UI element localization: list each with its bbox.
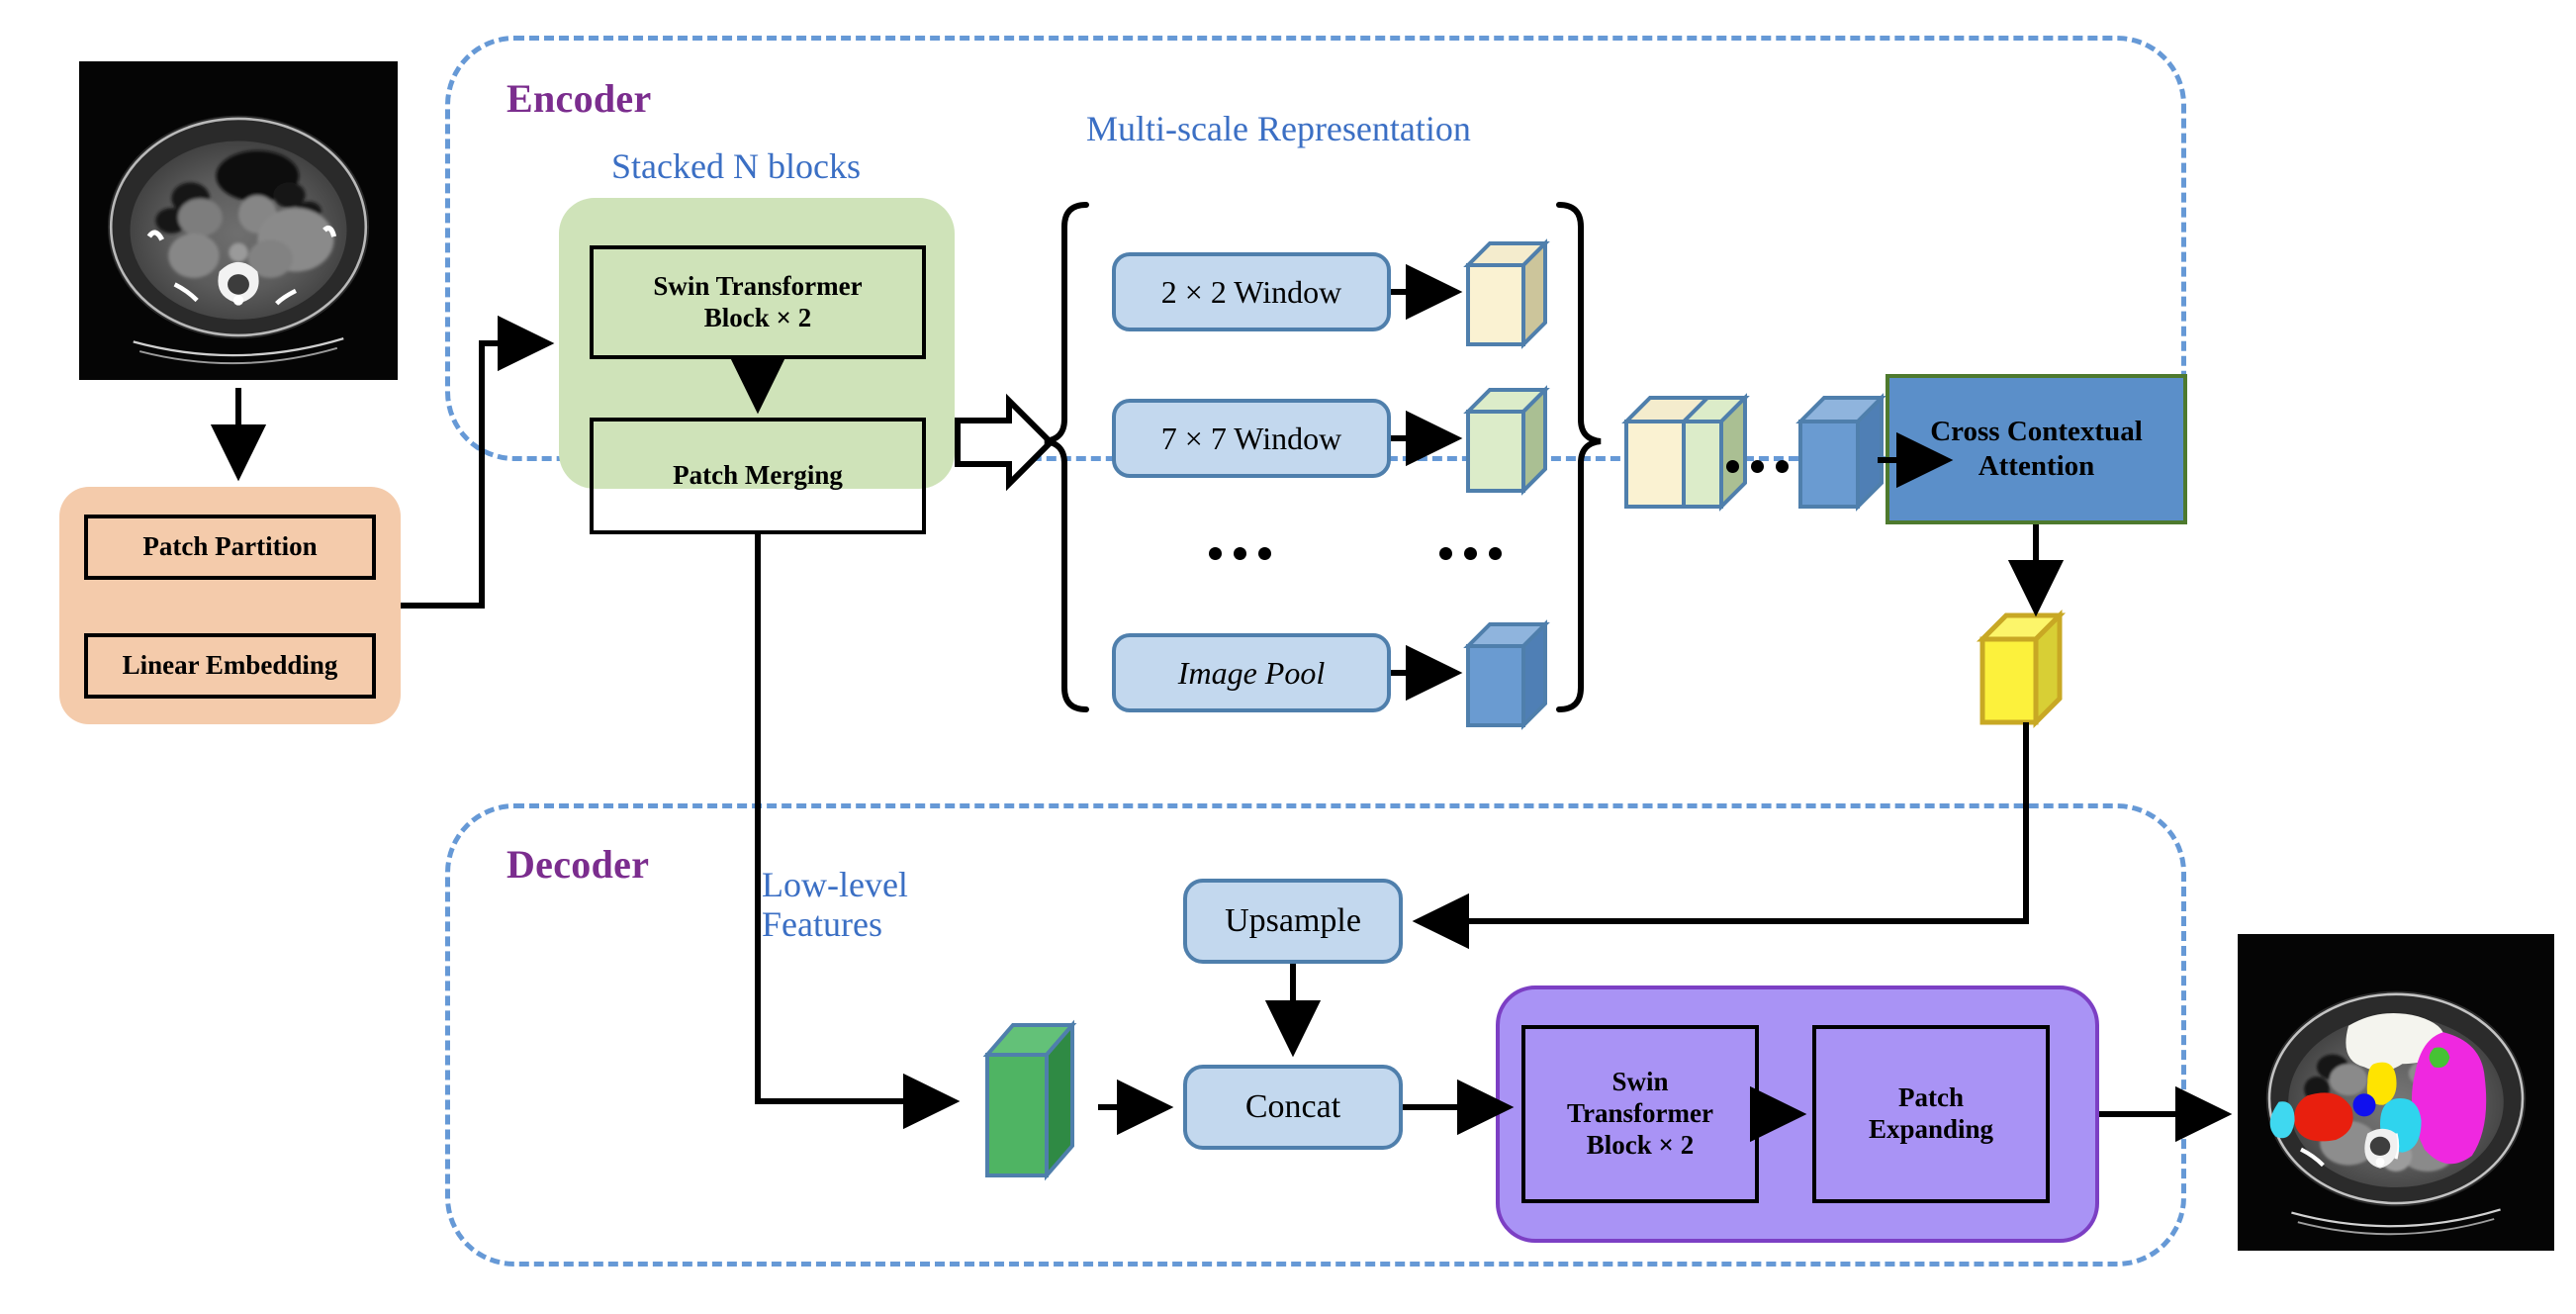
- feature-slab-7x7: [1446, 384, 1555, 501]
- upsample-box[interactable]: Upsample: [1183, 879, 1403, 964]
- encoder-swin-line2: Block × 2: [704, 303, 811, 334]
- branch-pill-7x7-window[interactable]: 7 × 7 Window: [1112, 399, 1391, 478]
- input-ct-slice: [79, 61, 398, 380]
- stacked-n-blocks-caption: Stacked N blocks: [611, 146, 861, 186]
- patch-partition-label: Patch Partition: [142, 531, 317, 563]
- attention-output-slab: [1969, 604, 2077, 732]
- encoder-swin-transformer-box[interactable]: Swin Transformer Block × 2: [590, 245, 926, 359]
- upsample-label: Upsample: [1225, 901, 1361, 940]
- low-level-line2: Features: [762, 904, 908, 944]
- attention-line2: Attention: [1978, 449, 2095, 484]
- concat-label: Concat: [1245, 1087, 1340, 1126]
- decoder-swin-line3: Block × 2: [1587, 1130, 1694, 1162]
- patch-merging-label: Patch Merging: [673, 460, 843, 492]
- low-level-features-caption: Low-level Features: [762, 865, 908, 945]
- decoder-swin-transformer-box[interactable]: Swin Transformer Block × 2: [1521, 1025, 1759, 1203]
- low-level-line1: Low-level: [762, 865, 908, 904]
- multiscale-caption: Multi-scale Representation: [1086, 109, 1471, 148]
- branch-label-7x7-window: 7 × 7 Window: [1161, 421, 1341, 457]
- encoder-region-label: Encoder: [506, 75, 652, 122]
- low-level-feature-slab: [969, 1007, 1098, 1195]
- aggregated-stack-ellipsis: [1726, 460, 1789, 473]
- decoder-swin-line2: Transformer: [1567, 1098, 1713, 1130]
- branch-label-image-pool: Image Pool: [1178, 655, 1325, 692]
- segmented-ct-slice: [2238, 934, 2554, 1251]
- concat-box[interactable]: Concat: [1183, 1065, 1403, 1150]
- branch-pill-2x2-window[interactable]: 2 × 2 Window: [1112, 252, 1391, 331]
- patch-expanding-line1: Patch: [1898, 1082, 1964, 1114]
- patch-merging-box[interactable]: Patch Merging: [590, 418, 926, 534]
- patch-expanding-box[interactable]: Patch Expanding: [1812, 1025, 2050, 1203]
- encoder-swin-line1: Swin Transformer: [653, 271, 862, 303]
- linear-embedding-label: Linear Embedding: [123, 650, 338, 682]
- feature-slab-2x2: [1446, 237, 1555, 354]
- patch-expanding-line2: Expanding: [1869, 1114, 1993, 1146]
- branch-pill-image-pool[interactable]: Image Pool: [1112, 633, 1391, 712]
- branch-ellipsis-left: [1209, 547, 1271, 560]
- decoder-swin-line1: Swin: [1611, 1067, 1668, 1098]
- branch-label-2x2-window: 2 × 2 Window: [1161, 274, 1341, 311]
- feature-slab-image-pool: [1446, 618, 1555, 735]
- branch-ellipsis-right: [1439, 547, 1502, 560]
- attention-line1: Cross Contextual: [1930, 415, 2143, 449]
- cross-contextual-attention-box[interactable]: Cross Contextual Attention: [1886, 374, 2187, 524]
- linear-embedding-box[interactable]: Linear Embedding: [84, 633, 376, 699]
- patch-partition-box[interactable]: Patch Partition: [84, 515, 376, 580]
- decoder-region-label: Decoder: [506, 841, 649, 888]
